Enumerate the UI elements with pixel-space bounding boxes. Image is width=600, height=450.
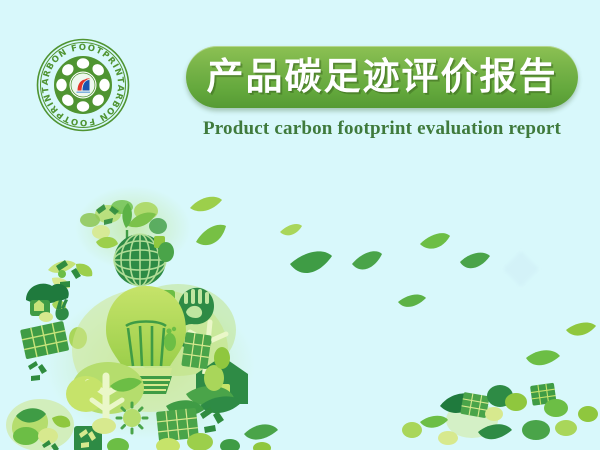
leaf-icon: [244, 424, 278, 439]
mushroom-cloud-cluster: [26, 284, 69, 322]
leaf-icon: [280, 224, 302, 235]
page-subtitle: Product carbon footprint evaluation repo…: [186, 118, 578, 140]
poster-page: CARBON FOOTPRINT · CARBON FOOTPRINT ·: [0, 0, 600, 450]
leaf-icon: [190, 197, 222, 212]
page-title: 产品碳足迹评价报告: [207, 58, 558, 97]
leaf-icon: [460, 253, 490, 269]
leaf-icon: [158, 242, 174, 262]
heel-cluster: [6, 399, 74, 450]
left-recycle-cluster: [48, 260, 92, 289]
leaf-icon: [544, 399, 568, 417]
leaf-icon: [398, 295, 426, 307]
leaf-icon: [196, 225, 226, 245]
leaf-icon: [566, 323, 596, 336]
seal-center-ring: [71, 73, 95, 97]
leaf-icon: [505, 393, 527, 411]
bottom-right-cluster: [402, 383, 598, 445]
leaf-icon: [352, 251, 382, 269]
leaf-icon: [214, 347, 230, 369]
carbon-footprint-logo: CARBON FOOTPRINT · CARBON FOOTPRINT ·: [36, 38, 130, 132]
leaf-icon: [522, 420, 550, 440]
leaf-icon: [420, 416, 448, 428]
title-banner: 产品碳足迹评价报告: [186, 46, 578, 108]
leaf-icon: [526, 350, 560, 365]
recycle-icon: [28, 361, 47, 381]
solar-panel-icon: [181, 332, 211, 369]
leaf-icon: [420, 233, 450, 248]
eco-footprint-illustration: [0, 180, 600, 450]
sun-icon: [117, 403, 147, 433]
leaf-icon: [290, 251, 332, 273]
